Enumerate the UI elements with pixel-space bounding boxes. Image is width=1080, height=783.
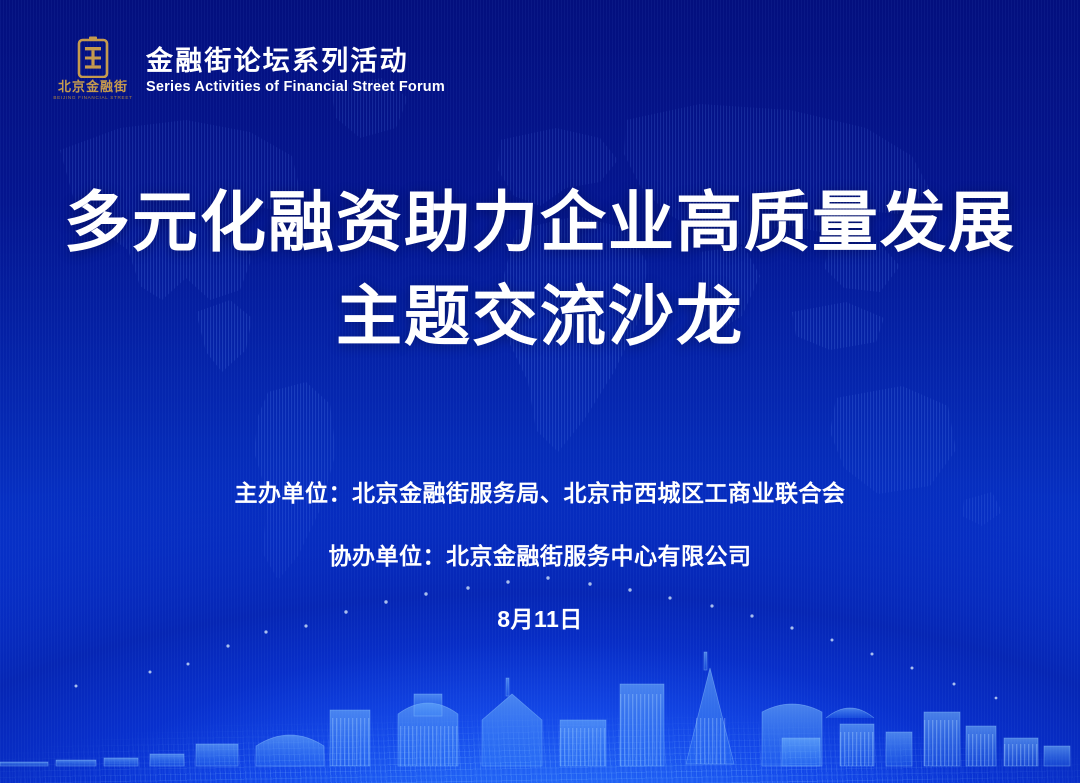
cohost-organizations: 协办单位：北京金融街服务中心有限公司 [0, 537, 1080, 571]
logo-chinese-name: 北京金融街 [58, 80, 128, 93]
main-title-line-2: 主题交流沙龙 [0, 270, 1080, 364]
world-map-background [0, 0, 1080, 783]
scanline-texture [0, 0, 1080, 783]
beijing-financial-street-seal-icon: 北京金融街 BEIJING FINANCIAL STREET [54, 36, 132, 108]
logo-english-name: BEIJING FINANCIAL STREET [53, 96, 132, 101]
perspective-grid-ground [0, 711, 1080, 783]
brand-header: 北京金融街 BEIJING FINANCIAL STREET 金融街论坛系列活动… [54, 36, 445, 108]
forum-title-english: Series Activities of Financial Street Fo… [146, 80, 445, 95]
event-date: 8月11日 [0, 600, 1080, 634]
main-title-line-1: 多元化融资助力企业高质量发展 [0, 176, 1080, 270]
host-organizations: 主办单位：北京金融街服务局、北京市西城区工商业联合会 [0, 474, 1080, 508]
main-title: 多元化融资助力企业高质量发展 主题交流沙龙 [0, 176, 1080, 363]
credits-block: 主办单位：北京金融街服务局、北京市西城区工商业联合会 协办单位：北京金融街服务中… [0, 474, 1080, 634]
forum-title-chinese: 金融街论坛系列活动 [146, 48, 445, 75]
poster-canvas: 北京金融街 BEIJING FINANCIAL STREET 金融街论坛系列活动… [0, 0, 1080, 783]
